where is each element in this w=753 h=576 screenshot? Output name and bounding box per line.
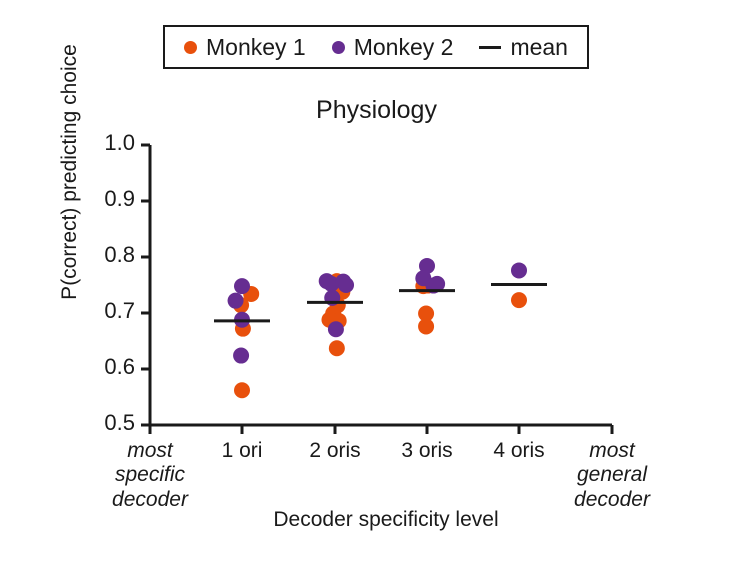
data-point	[329, 340, 345, 356]
data-point	[511, 292, 527, 308]
data-point	[234, 278, 250, 294]
y-tick-label: 0.9	[73, 186, 135, 212]
data-point	[328, 321, 344, 337]
physiology-scatter-figure: Monkey 1Monkey 2mean Physiology P(correc…	[0, 0, 753, 576]
data-point	[418, 318, 434, 334]
y-tick-label: 0.5	[73, 410, 135, 436]
y-tick-label: 0.7	[73, 298, 135, 324]
y-tick-label: 1.0	[73, 130, 135, 156]
data-point	[511, 262, 527, 278]
data-point	[338, 277, 354, 293]
data-point	[234, 382, 250, 398]
data-point	[233, 348, 249, 364]
y-tick-label: 0.6	[73, 354, 135, 380]
x-tick-label: mostgeneraldecoder	[552, 439, 672, 512]
data-point	[228, 293, 244, 309]
y-tick-label: 0.8	[73, 242, 135, 268]
